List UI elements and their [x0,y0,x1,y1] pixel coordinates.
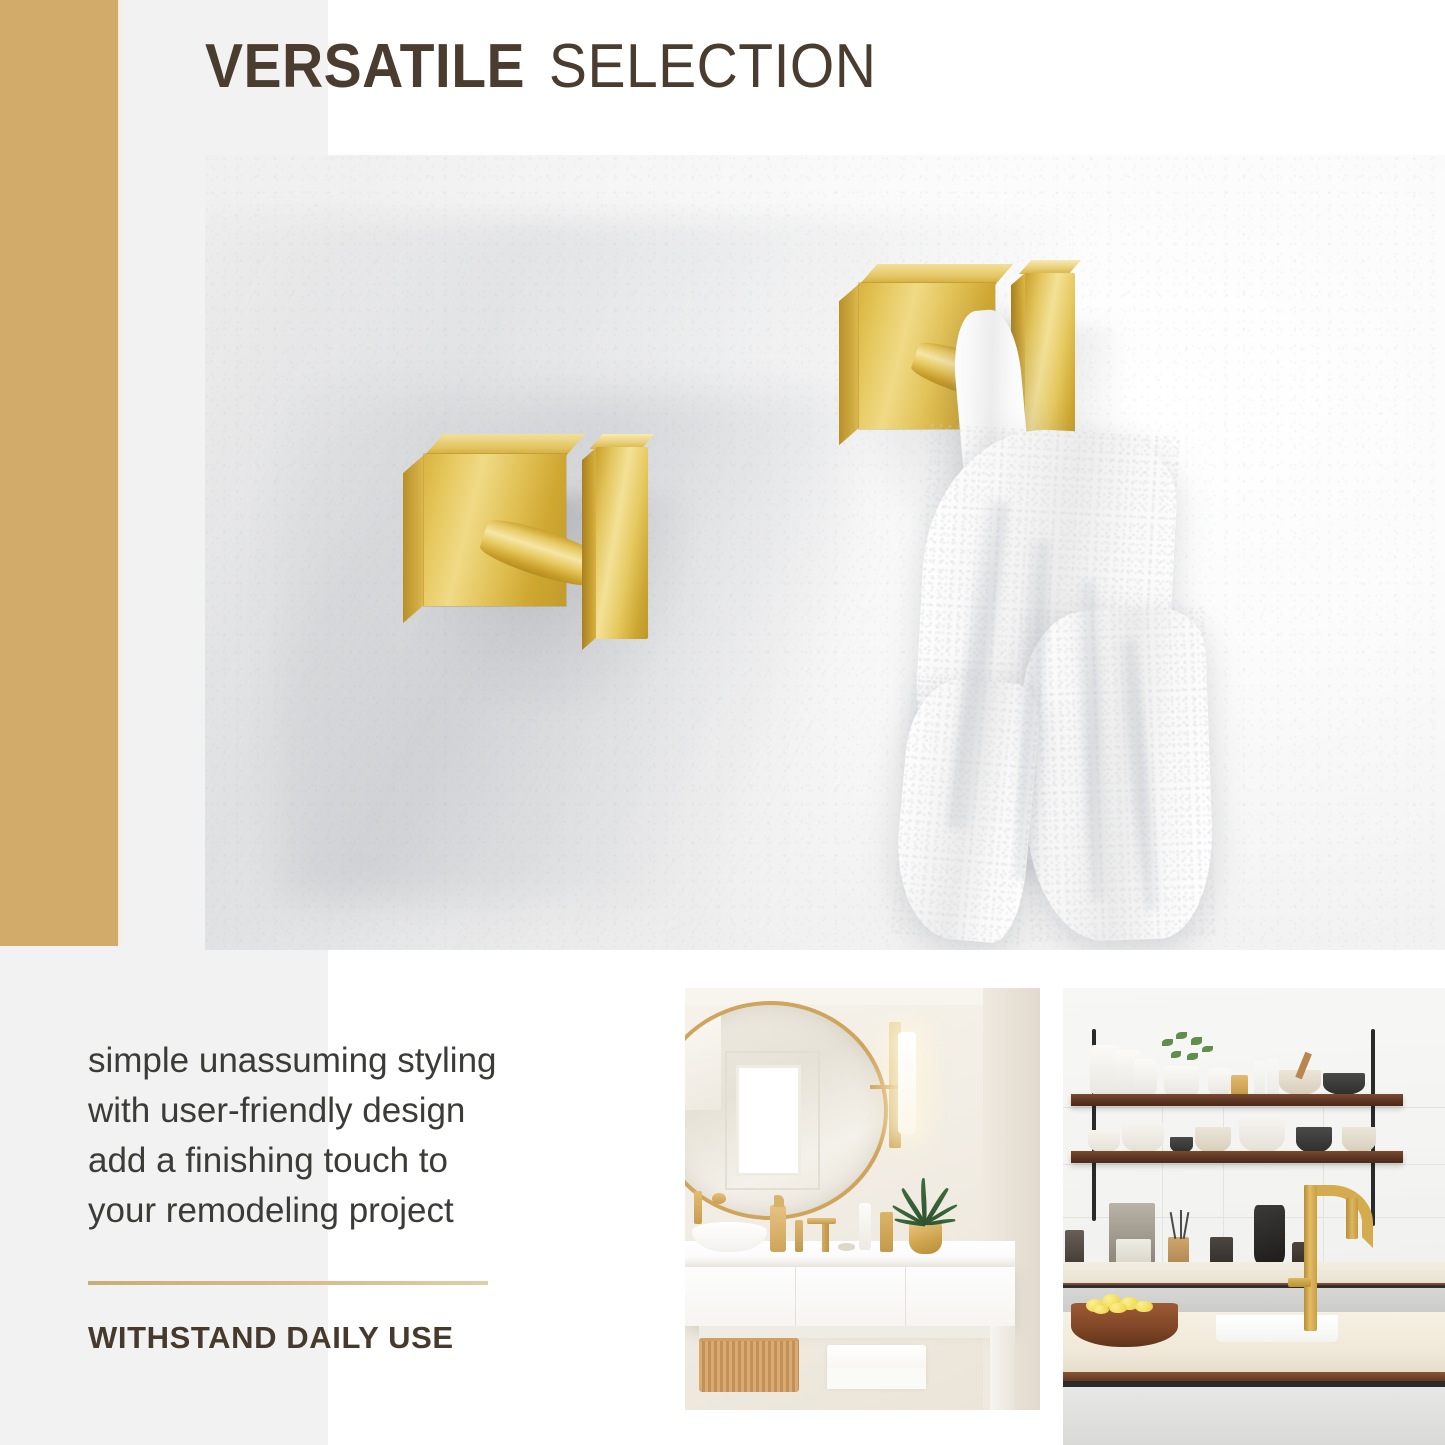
gold-bottle [880,1212,893,1252]
soap-dispenser [770,1205,786,1251]
wall-sconce-arm [870,1085,902,1089]
undermount-sink [1216,1315,1338,1342]
hook-right-plate-side-bevel [839,283,860,445]
vanity-lower-shelf [699,1326,1015,1339]
lemon-pile [1078,1290,1170,1313]
copy-line-1: simple unassuming styling [88,1036,608,1086]
beige-bowl [1342,1127,1376,1152]
lemon [1109,1303,1126,1314]
hanging-towel [895,310,1225,950]
stacked-bowls [1088,1130,1120,1153]
ribbed-bowl [1195,1127,1231,1152]
soap-dish [838,1243,856,1251]
towel-tail-texture [1019,607,1215,943]
vanity-drawer-seam-2 [905,1267,906,1326]
wicker-basket [699,1338,798,1392]
hook-right-bar-top-bevel [1019,260,1081,274]
tile-grout-line [1063,1164,1445,1165]
hook-left-bar [596,447,648,639]
gold-plant-pot [909,1222,943,1254]
island-lower-cabinets [1063,1387,1445,1445]
faucet-lever-handle [1288,1278,1311,1287]
herb-leaf [1162,1039,1173,1046]
utensil [1180,1210,1182,1240]
mirror-reflected-door [739,1068,798,1174]
gold-divider-line [88,1281,488,1285]
robe-hook-left [400,410,720,710]
banner-stage: VERSATILESELECTION [0,0,1445,1445]
towel-drape-tail [1019,607,1215,943]
counter-faucet-spout [807,1218,835,1224]
vanity-drawers [685,1267,1015,1326]
kitchen-lifestyle-photo [1063,988,1445,1445]
serving-bowl-dark [1323,1073,1365,1096]
hook-left-plate-top-bevel [424,434,585,456]
copy-line-2: with user-friendly design [88,1086,608,1136]
herb-leaf [1176,1032,1187,1039]
ceramic-vase [1208,1068,1231,1095]
upper-open-shelf [1071,1094,1403,1106]
lower-open-shelf [1071,1151,1403,1163]
amber-glass-jar [1231,1075,1248,1096]
page-title: VERSATILESELECTION [205,36,876,98]
faucet-handle-knob [712,1193,726,1204]
potted-plant-foliage [909,1178,945,1224]
kitchen-counter [1063,1262,1445,1285]
glass-tumbler [1267,1059,1278,1096]
hook-left-plate-side-bevel [403,454,425,623]
mirror-highlight [685,1013,721,1110]
bathroom-lifestyle-photo [685,988,1040,1410]
page-title-regular: SELECTION [549,32,876,101]
black-ceramic-jug [1254,1205,1285,1264]
herb-leaf [1202,1046,1212,1053]
wall-sconce-light [898,1032,916,1133]
tagline: WITHSTAND DAILY USE [88,1320,454,1356]
faucet-spout [1346,1198,1358,1239]
soap-dispenser-pump [774,1195,785,1208]
marketing-copy: simple unassuming styling with user-frie… [88,1036,608,1236]
large-bowl [1239,1118,1285,1152]
gold-accent-bar [0,0,118,946]
white-bottle [859,1203,871,1249]
lemon [1135,1301,1152,1313]
mixing-bowl [1122,1123,1164,1153]
tile-grout-line [1063,1107,1445,1108]
glass-tumbler [1254,1061,1265,1095]
hero-product-photo [205,155,1445,950]
faucet-column [1304,1185,1317,1331]
copy-line-3: add a finishing touch to [88,1136,608,1186]
herb-leaf [1187,1053,1198,1060]
vanity-drawer-seam-1 [795,1267,796,1326]
gold-accent-bar-edge [118,0,122,946]
vanity-side-panel [990,1326,1015,1410]
dark-bowl-stack [1296,1127,1332,1152]
herb-leaf [1171,1051,1182,1058]
herb-leaf [1191,1037,1202,1044]
hook-right-plate-top-bevel [859,264,1013,285]
wall-mounted-faucet [694,1191,703,1225]
hero-wall-texture [205,155,1445,950]
page-title-bold: VERSATILE [205,32,525,101]
folded-towel-bottom [827,1368,926,1389]
hook-left-bar-side-bevel [582,447,597,650]
copy-line-4: your remodeling project [88,1186,608,1236]
counter-faucet-base [795,1220,803,1252]
